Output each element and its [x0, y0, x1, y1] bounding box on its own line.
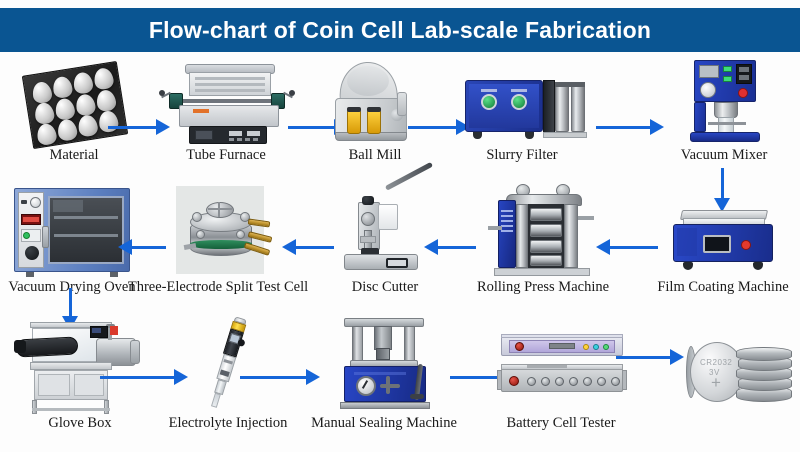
vacuum-drying-oven-icon	[4, 186, 140, 278]
step-label: Three-Electrode Split Test Cell	[128, 280, 308, 295]
step-slurry-filter: Slurry Filter	[452, 62, 592, 162]
step-material: Material	[14, 62, 134, 162]
split-test-cell-icon	[158, 186, 278, 278]
step-label: Material	[49, 148, 98, 163]
step-label: Film Coating Machine	[657, 280, 788, 295]
step-rolling-press: Rolling Press Machine	[468, 180, 618, 294]
step-ball-mill: Ball Mill	[320, 60, 430, 162]
step-label: Glove Box	[48, 416, 111, 431]
page-title: Flow-chart of Coin Cell Lab-scale Fabric…	[149, 17, 651, 44]
coin-cell-model-text: CR2032	[700, 358, 732, 367]
coin-cell-polarity-text: +	[711, 374, 721, 391]
tube-furnace-icon	[157, 64, 295, 146]
step-label: Slurry Filter	[486, 148, 557, 163]
disc-cutter-icon	[332, 186, 438, 278]
step-label: Battery Cell Tester	[506, 416, 615, 431]
step-label: Electrolyte Injection	[169, 416, 288, 431]
step-label: Tube Furnace	[186, 148, 266, 163]
step-label: Vacuum Mixer	[681, 148, 768, 163]
vacuum-mixer-icon	[664, 60, 784, 146]
step-tube-furnace: Tube Furnace	[156, 62, 296, 162]
slurry-filter-icon	[453, 64, 591, 146]
page-title-banner: Flow-chart of Coin Cell Lab-scale Fabric…	[0, 8, 800, 52]
manual-sealing-icon	[324, 316, 444, 414]
glove-box-icon	[12, 316, 148, 414]
arrow-tester-to-coincell	[616, 348, 684, 366]
coin-cells-icon: CR2032 3V +	[678, 328, 798, 428]
step-coin-cells: CR2032 3V +	[676, 310, 800, 430]
rolling-press-icon	[484, 184, 602, 278]
battery-cell-tester-icon	[483, 326, 639, 414]
step-label: Ball Mill	[349, 148, 402, 163]
step-label: Disc Cutter	[352, 280, 418, 295]
pipette-icon	[188, 316, 268, 414]
step-label: Manual Sealing Machine	[311, 416, 457, 431]
arrow-disccutter-to-testcell	[282, 238, 334, 256]
step-manual-sealing: Manual Sealing Machine	[304, 312, 464, 430]
arrow-slurryfilter-to-vacuummixer	[596, 118, 664, 136]
flowchart-page: Flow-chart of Coin Cell Lab-scale Fabric…	[0, 0, 800, 452]
step-battery-cell-tester: Battery Cell Tester	[476, 320, 646, 430]
step-film-coating: Film Coating Machine	[648, 196, 798, 294]
step-split-test-cell: Three-Electrode Split Test Cell	[144, 182, 292, 294]
film-coating-icon	[663, 202, 783, 278]
step-vacuum-mixer: Vacuum Mixer	[662, 58, 786, 162]
step-label: Rolling Press Machine	[477, 280, 609, 295]
